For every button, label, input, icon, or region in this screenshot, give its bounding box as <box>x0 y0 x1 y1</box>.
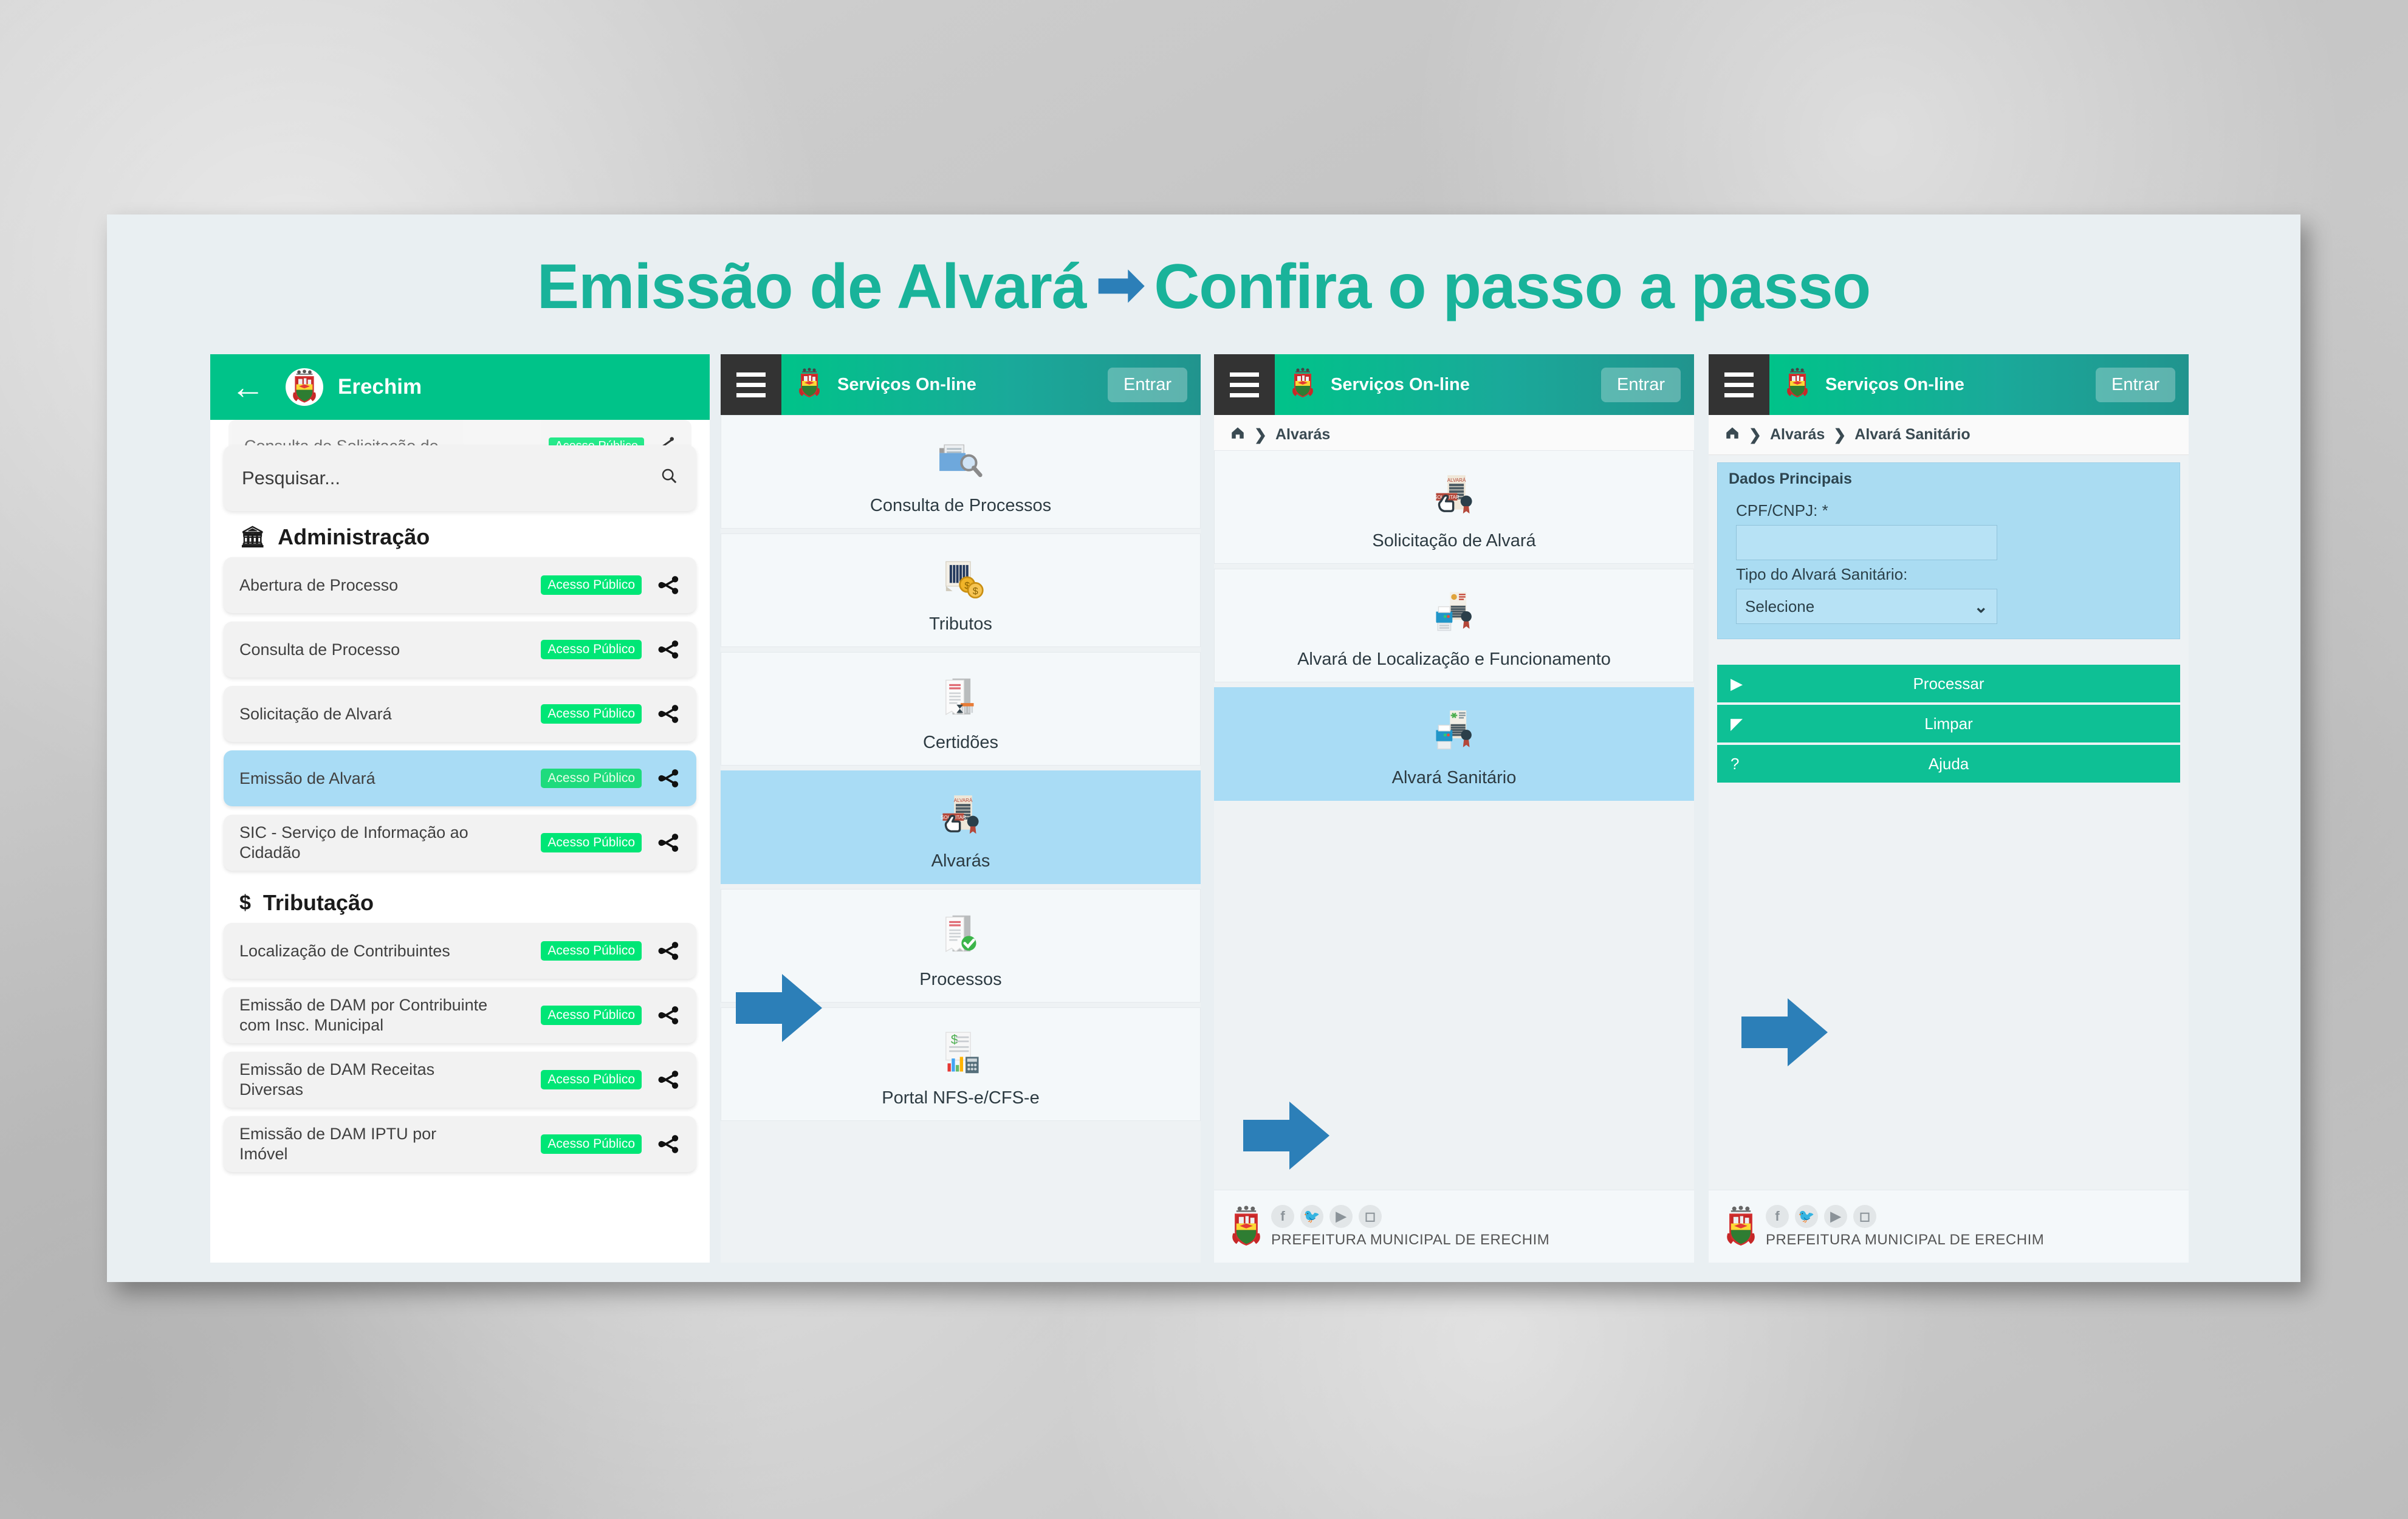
service-tile-list[interactable]: Consulta de Processos $ $Tributos <box>721 415 1201 1263</box>
breadcrumb[interactable]: ❯ Alvarás ❯ Alvará Sanitário <box>1709 415 2189 455</box>
service-tile[interactable]: Certidões <box>721 652 1201 766</box>
crest-icon <box>797 364 822 406</box>
list-item-label: Emissão de Alvará <box>239 769 376 789</box>
invoice-calculator-icon: $ <box>935 1021 987 1080</box>
breadcrumb[interactable]: ❯ Alvarás <box>1214 415 1694 455</box>
web-header: Serviços On-line Entrar <box>1214 354 1694 415</box>
service-list[interactable]: 🏛AdministraçãoAbertura de ProcessoAcesso… <box>210 513 710 1263</box>
permit-click-seal-icon: ALVARÁ SOLICITAR <box>1428 464 1480 523</box>
status-badge: Acesso Público <box>541 769 642 788</box>
crest-icon <box>1724 1204 1757 1249</box>
status-badge: Acesso Público <box>541 941 642 961</box>
status-badge: Acesso Público <box>541 640 642 659</box>
login-button[interactable]: Entrar <box>1108 368 1187 402</box>
list-item[interactable]: Emissão de DAM por Contribuinte com Insc… <box>224 987 696 1043</box>
section-title: Administração <box>278 524 430 550</box>
svg-text:ALVARÁ: ALVARÁ <box>1447 478 1466 483</box>
chevron-down-icon: ⌄ <box>1974 597 1988 617</box>
list-item-label: Emissão de DAM por Contribuinte com Insc… <box>239 995 489 1035</box>
barcode-coins-icon: $ $ <box>935 547 987 606</box>
document-check-icon <box>935 903 987 961</box>
list-item[interactable]: Localização de ContribuintesAcesso Públi… <box>224 923 696 979</box>
limpar-button[interactable]: ◤Limpar <box>1717 705 2180 742</box>
cpf-cnpj-field[interactable] <box>1736 525 1997 560</box>
status-badge: Acesso Público <box>541 575 642 595</box>
button-label: Processar <box>1717 674 2180 693</box>
share-icon[interactable] <box>656 1003 681 1027</box>
share-icon[interactable] <box>656 637 681 662</box>
service-tile[interactable]: ALVARÁ SOLICITAR Solicitação de Alvará <box>1214 450 1694 564</box>
brand-title: Serviços On-line <box>837 375 976 395</box>
section-title: Tributação <box>263 890 374 916</box>
panel-services-home: Serviços On-line Entrar Consulta de Proc… <box>721 354 1201 1263</box>
tipo-alvara-select[interactable]: Selecione ⌄ <box>1736 589 1997 624</box>
service-tile[interactable]: Alvará Sanitário <box>1214 687 1694 801</box>
search-icon[interactable] <box>660 467 678 490</box>
form-action-buttons[interactable]: ▶Processar◤Limpar?Ajuda <box>1717 665 2180 783</box>
instagram-icon[interactable]: ◻ <box>1853 1205 1876 1228</box>
status-badge: Acesso Público <box>541 1134 642 1154</box>
status-badge: Acesso Público <box>541 1070 642 1089</box>
service-tile-label: Alvarás <box>931 851 990 871</box>
brand-title: Serviços On-line <box>1825 375 1964 395</box>
breadcrumb-item[interactable]: Alvarás <box>1275 426 1330 444</box>
twitter-icon[interactable]: 🐦 <box>1300 1205 1323 1228</box>
footer: f 🐦 ▶ ◻ PREFEITURA MUNICIPAL DE ERECHIM <box>1709 1190 2189 1263</box>
list-item[interactable]: Solicitação de AlvaráAcesso Público <box>224 686 696 742</box>
svg-text:$: $ <box>951 1032 958 1047</box>
share-icon[interactable] <box>656 1132 681 1156</box>
button-label: Ajuda <box>1717 755 2180 773</box>
processar-button[interactable]: ▶Processar <box>1717 665 2180 702</box>
back-arrow-icon[interactable]: ← <box>231 370 265 404</box>
breadcrumb-item-alvara-sanitario[interactable]: Alvará Sanitário <box>1854 426 1970 444</box>
hamburger-icon[interactable] <box>1709 354 1769 415</box>
flow-arrow-2-to-3 <box>1243 1102 1329 1170</box>
list-item-label: Localização de Contribuintes <box>239 941 450 961</box>
web-header: Serviços On-line Entrar <box>721 354 1201 415</box>
share-icon[interactable] <box>656 573 681 597</box>
crest-icon <box>1230 1204 1263 1249</box>
share-icon[interactable] <box>656 1068 681 1092</box>
social-links[interactable]: f 🐦 ▶ ◻ <box>1271 1205 1549 1228</box>
share-icon[interactable] <box>656 766 681 790</box>
list-item-label: Emissão de DAM Receitas Diversas <box>239 1060 489 1100</box>
title-left: Emissão de Alvará <box>537 252 1086 322</box>
ajuda-button[interactable]: ?Ajuda <box>1717 745 2180 783</box>
social-links[interactable]: f 🐦 ▶ ◻ <box>1766 1205 2044 1228</box>
service-tile-label: Consulta de Processos <box>870 496 1051 516</box>
title-arrow-icon: ➡ <box>1096 250 1144 318</box>
service-tile-label: Processos <box>919 970 1001 990</box>
service-tile-label: Alvará de Localização e Funcionamento <box>1297 650 1611 670</box>
list-item[interactable]: SIC - Serviço de Informação ao CidadãoAc… <box>224 815 696 871</box>
crest-icon <box>286 368 323 406</box>
crest-icon <box>1785 364 1809 406</box>
breadcrumb-item-alvaras[interactable]: Alvarás <box>1770 426 1825 444</box>
service-tile-label: Certidões <box>923 733 998 753</box>
app-header: ← Erechim <box>210 354 710 420</box>
svg-text:$: $ <box>973 586 978 597</box>
title-right: Confira o passo a passo <box>1154 252 1870 322</box>
tipo-alvara-selected: Selecione <box>1745 597 1814 616</box>
svg-text:ALVARÁ: ALVARÁ <box>954 798 973 803</box>
list-item-label: Emissão de DAM IPTU por Imóvel <box>239 1124 489 1164</box>
home-icon[interactable] <box>1724 425 1740 445</box>
eraser-icon: ◤ <box>1731 715 1743 733</box>
section-header: 🏛Administração <box>224 513 696 557</box>
list-item-label: Consulta de Processo <box>239 640 400 660</box>
chevron-right-icon: ❯ <box>1833 426 1846 444</box>
dollar-icon: $ <box>239 891 251 915</box>
service-tile-label: Solicitação de Alvará <box>1372 531 1535 551</box>
facebook-icon[interactable]: f <box>1766 1205 1789 1228</box>
instagram-icon[interactable]: ◻ <box>1359 1205 1382 1228</box>
service-tile[interactable]: $ $Tributos <box>721 533 1201 647</box>
app-city-title: Erechim <box>338 375 422 399</box>
tipo-alvara-label: Tipo do Alvará Sanitário: <box>1736 565 2169 584</box>
main-data-fieldset: Dados Principais CPF/CNPJ: * Tipo do Alv… <box>1717 462 2180 639</box>
hamburger-icon[interactable] <box>1214 354 1275 415</box>
button-label: Limpar <box>1717 715 2180 733</box>
login-button[interactable]: Entrar <box>2096 368 2175 402</box>
home-icon[interactable] <box>1230 425 1246 445</box>
footer-org-name: PREFEITURA MUNICIPAL DE ERECHIM <box>1766 1232 2044 1249</box>
footer-org-name: PREFEITURA MUNICIPAL DE ERECHIM <box>1271 1232 1549 1249</box>
service-tile[interactable]: Alvará de Localização e Funcionamento <box>1214 569 1694 682</box>
status-badge: Acesso Público <box>541 833 642 852</box>
footer: f 🐦 ▶ ◻ PREFEITURA MUNICIPAL DE ERECHIM <box>1214 1190 1694 1263</box>
printer-permit-seal-icon <box>1428 583 1480 641</box>
service-tile-label: Portal NFS-e/CFS-e <box>882 1088 1039 1108</box>
twitter-icon[interactable]: 🐦 <box>1795 1205 1818 1228</box>
cpf-cnpj-label: CPF/CNPJ: * <box>1736 501 2169 520</box>
facebook-icon[interactable]: f <box>1271 1205 1294 1228</box>
panel-alvara-sanitario-form: Serviços On-line Entrar ❯ Alvarás ❯ Alva… <box>1709 354 2189 1263</box>
search-input[interactable]: Pesquisar... <box>224 445 696 511</box>
list-item-label: Abertura de Processo <box>239 575 398 595</box>
section-header: $Tributação <box>224 879 696 923</box>
service-tile[interactable]: Consulta de Processos <box>721 415 1201 529</box>
service-tile-label: Alvará Sanitário <box>1392 768 1517 788</box>
share-icon[interactable] <box>656 939 681 963</box>
youtube-icon[interactable]: ▶ <box>1329 1205 1353 1228</box>
status-badge: Acesso Público <box>541 704 642 724</box>
play-icon: ▶ <box>1731 674 1743 693</box>
list-item[interactable]: Abertura de ProcessoAcesso Público <box>224 557 696 613</box>
infographic-card: Emissão de Alvará➡Confira o passo a pass… <box>107 214 2300 1282</box>
fieldset-legend: Dados Principais <box>1718 463 2180 494</box>
list-item[interactable]: Emissão de DAM Receitas DiversasAcesso P… <box>224 1052 696 1108</box>
bank-icon: 🏛 <box>239 525 266 549</box>
hamburger-icon[interactable] <box>721 354 781 415</box>
chevron-right-icon: ❯ <box>1749 426 1761 444</box>
list-item-label: Solicitação de Alvará <box>239 704 392 724</box>
brand-title: Serviços On-line <box>1331 375 1470 395</box>
flow-arrow-1-to-2 <box>736 974 822 1042</box>
panel-mobile-app: Consulta de Solicitação de Acesso Públic… <box>210 354 710 1263</box>
youtube-icon[interactable]: ▶ <box>1824 1205 1847 1228</box>
search-placeholder: Pesquisar... <box>242 467 340 489</box>
chevron-right-icon: ❯ <box>1254 426 1267 444</box>
list-item-label: SIC - Serviço de Informação ao Cidadão <box>239 823 489 863</box>
share-icon[interactable] <box>656 702 681 726</box>
flow-arrow-3-to-4 <box>1741 998 1828 1066</box>
service-tile[interactable]: ALVARÁ SOLICITAR Alvarás <box>721 770 1201 884</box>
list-item[interactable]: Emissão de AlvaráAcesso Público <box>224 750 696 806</box>
crest-icon <box>1291 364 1315 406</box>
printer-sanitario-icon <box>1428 701 1480 759</box>
status-badge: Acesso Público <box>541 1006 642 1025</box>
web-header: Serviços On-line Entrar <box>1709 354 2189 415</box>
permit-click-seal-icon: ALVARÁ SOLICITAR <box>935 784 987 843</box>
question-icon: ? <box>1731 755 1739 773</box>
share-icon[interactable] <box>656 831 681 855</box>
service-tile-label: Tributos <box>929 614 992 634</box>
list-item[interactable]: Emissão de DAM IPTU por ImóvelAcesso Púb… <box>224 1116 696 1172</box>
folder-search-icon <box>935 429 987 487</box>
login-button[interactable]: Entrar <box>1601 368 1681 402</box>
certificate-hourglass-icon <box>935 666 987 724</box>
list-item[interactable]: Consulta de ProcessoAcesso Público <box>224 622 696 677</box>
page-title: Emissão de Alvará➡Confira o passo a pass… <box>107 251 2300 323</box>
